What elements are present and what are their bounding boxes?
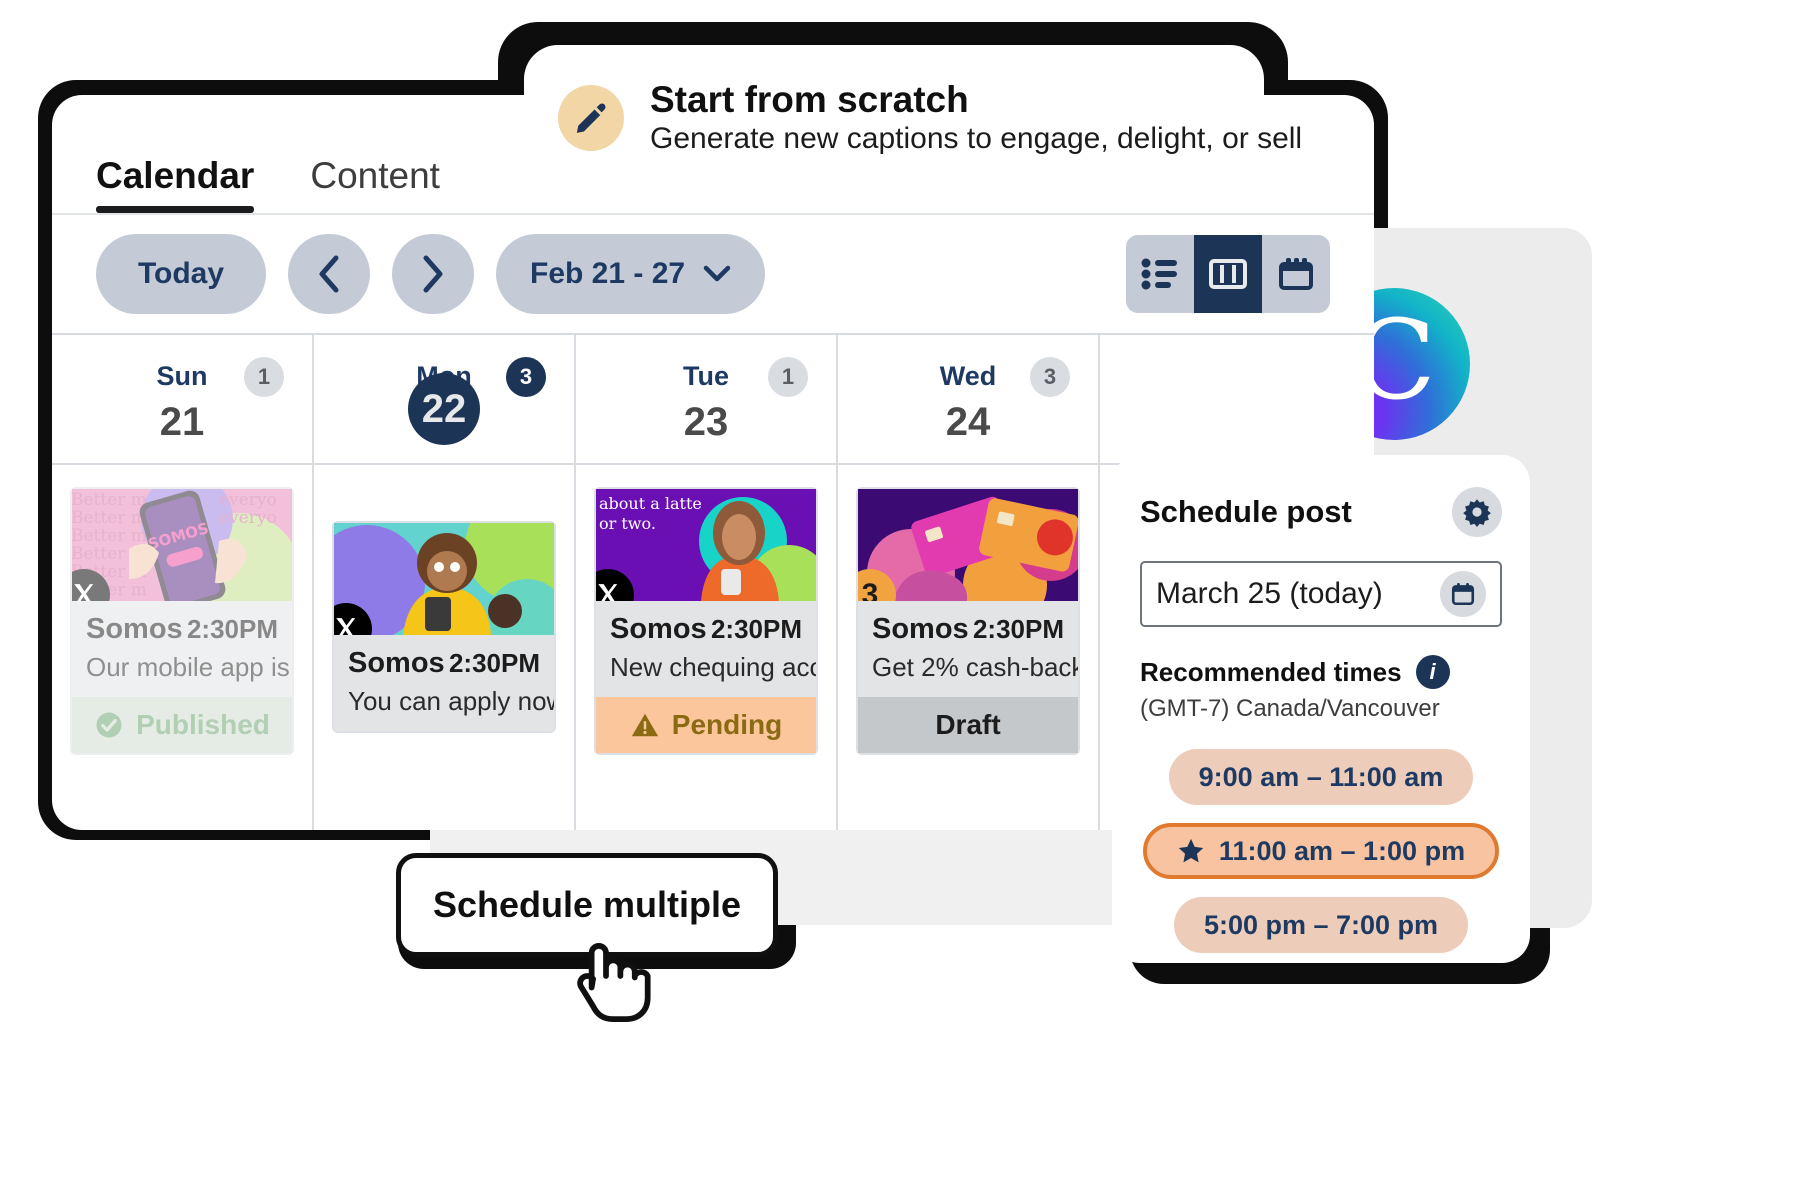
day-column-tue: Tue 1 23 about a latte or two. — [576, 335, 838, 830]
post-time: 2:30PM — [973, 614, 1064, 645]
time-chip-selected[interactable]: 11:00 am – 1:00 pm — [1143, 823, 1499, 879]
schedule-post-header: Schedule post — [1140, 487, 1502, 537]
schedule-date-value: March 25 (today) — [1156, 577, 1383, 611]
post-meta: Somos 2:30PM — [334, 635, 554, 686]
post-status-label: Published — [136, 709, 270, 741]
post-time: 2:30PM — [449, 648, 540, 679]
hand-pointer-cursor — [560, 930, 652, 1022]
svg-text:Better m: Better m — [72, 508, 147, 528]
post-account: Somos — [610, 613, 707, 646]
day-number-mon: 22 — [314, 373, 574, 445]
time-chip[interactable]: 9:00 am – 11:00 am — [1169, 749, 1474, 805]
time-chip-label: 5:00 pm – 7:00 pm — [1204, 910, 1438, 941]
day-body-sun[interactable]: Better mBetter m Better mBetter m Better… — [52, 465, 312, 830]
post-meta: Somos 2:30PM — [72, 601, 292, 652]
start-from-scratch-title: Start from scratch — [650, 79, 1302, 120]
date-range-selector[interactable]: Feb 21 - 27 — [496, 234, 765, 314]
post-thumbnail: about a latte or two. — [596, 489, 816, 601]
x-icon — [334, 616, 359, 635]
day-number-mon-value: 22 — [408, 373, 480, 445]
day-number-tue: 23 — [576, 400, 836, 445]
post-status-badge: Draft — [858, 697, 1078, 753]
day-count-badge-tue: 1 — [768, 357, 808, 397]
start-from-scratch-text: Start from scratch Generate new captions… — [650, 79, 1302, 156]
day-body-wed[interactable]: 3 Somos 2:30PM Get 2% cash-back... Draft — [838, 465, 1098, 830]
recommended-time-chips: 9:00 am – 11:00 am 11:00 am – 1:00 pm 5:… — [1140, 749, 1502, 953]
time-chip-label: 9:00 am – 11:00 am — [1199, 762, 1444, 793]
svg-text:Better m: Better m — [72, 490, 147, 510]
schedule-post-panel: Schedule post March 25 (today) Recom — [1112, 455, 1530, 963]
info-icon[interactable]: i — [1416, 655, 1450, 689]
today-button[interactable]: Today — [96, 234, 266, 314]
schedule-date-input[interactable]: March 25 (today) — [1140, 561, 1502, 627]
columns-icon — [1209, 257, 1247, 291]
chevron-left-icon — [316, 254, 342, 294]
post-caption: Get 2% cash-back... — [858, 652, 1078, 697]
recommended-times-header: Recommended times i — [1140, 655, 1502, 689]
date-picker-button[interactable] — [1440, 571, 1486, 617]
calendar-toolbar: Today Feb 21 - 27 — [52, 215, 1374, 333]
post-caption: You can apply now... — [334, 686, 554, 731]
post-status-badge: Pending — [596, 697, 816, 753]
pencil-icon-wrapper — [558, 85, 624, 151]
post-status-badge: Published — [72, 697, 292, 753]
previous-week-button[interactable] — [288, 234, 370, 314]
post-time: 2:30PM — [187, 614, 278, 645]
post-status-label: Draft — [935, 709, 1000, 741]
day-column-mon: Mon 3 22 — [314, 335, 576, 830]
post-caption: Our mobile app is... — [72, 652, 292, 697]
day-header-wed: Wed 3 24 — [838, 335, 1098, 465]
date-range-label: Feb 21 - 27 — [530, 257, 685, 291]
post-account: Somos — [872, 613, 969, 646]
day-number-wed: 24 — [838, 400, 1098, 445]
post-thumbnail: 3 — [858, 489, 1078, 601]
tab-calendar[interactable]: Calendar — [96, 155, 254, 213]
day-column-wed: Wed 3 24 — [838, 335, 1100, 830]
post-meta: Somos 2:30PM — [596, 601, 816, 652]
star-icon — [1177, 837, 1205, 865]
time-chip-label: 11:00 am – 1:00 pm — [1219, 836, 1465, 867]
day-body-tue[interactable]: about a latte or two. — [576, 465, 836, 830]
post-meta: Somos 2:30PM — [858, 601, 1078, 652]
post-card[interactable]: Better mBetter m Better mBetter m Better… — [70, 487, 294, 755]
svg-text:everyo: everyo — [219, 490, 277, 510]
gear-icon — [1462, 497, 1492, 527]
post-thumbnail — [334, 523, 554, 635]
column-view-button[interactable] — [1194, 235, 1262, 313]
day-number-sun: 21 — [52, 400, 312, 445]
day-count-badge-sun: 1 — [244, 357, 284, 397]
post-time: 2:30PM — [711, 614, 802, 645]
day-header-tue: Tue 1 23 — [576, 335, 836, 465]
day-body-mon[interactable]: Somos 2:30PM You can apply now... — [314, 465, 574, 830]
post-card[interactable]: Somos 2:30PM You can apply now... — [332, 521, 556, 733]
settings-button[interactable] — [1452, 487, 1502, 537]
month-view-button[interactable] — [1262, 235, 1330, 313]
day-header-partial — [1100, 335, 1270, 465]
screenshot-root: C Calendar Content Today Feb 21 - 27 — [0, 0, 1800, 1200]
post-card[interactable]: about a latte or two. — [594, 487, 818, 755]
svg-text:Better m: Better m — [72, 526, 147, 546]
day-header-mon: Mon 3 22 — [314, 335, 574, 465]
post-thumbnail: Better mBetter m Better mBetter m Better… — [72, 489, 292, 601]
view-toggle-group — [1126, 235, 1330, 313]
day-header-sun: Sun 1 21 — [52, 335, 312, 465]
day-count-badge-wed: 3 — [1030, 357, 1070, 397]
next-week-button[interactable] — [392, 234, 474, 314]
x-icon — [596, 582, 621, 601]
pencil-icon — [574, 101, 608, 135]
post-account: Somos — [86, 613, 183, 646]
timezone-label: (GMT-7) Canada/Vancouver — [1140, 695, 1502, 723]
recommended-times-label: Recommended times — [1140, 657, 1402, 688]
post-card[interactable]: 3 Somos 2:30PM Get 2% cash-back... Draft — [856, 487, 1080, 755]
calendar-icon — [1450, 581, 1476, 607]
day-column-sun: Sun 1 21 Better mBetter m — [52, 335, 314, 830]
warning-triangle-icon — [630, 711, 660, 739]
schedule-post-title: Schedule post — [1140, 494, 1352, 530]
start-from-scratch-tooltip[interactable]: Start from scratch Generate new captions… — [524, 45, 1264, 191]
svg-text:everyo: everyo — [219, 508, 277, 528]
time-chip[interactable]: 5:00 pm – 7:00 pm — [1174, 897, 1468, 953]
svg-text:about a latte: about a latte — [599, 494, 702, 513]
chevron-down-icon — [703, 265, 731, 283]
list-icon — [1141, 257, 1179, 291]
chevron-right-icon — [420, 254, 446, 294]
calendar-icon — [1277, 256, 1315, 292]
x-icon — [72, 582, 97, 601]
post-account: Somos — [348, 647, 445, 680]
post-caption: New chequing acc... — [596, 652, 816, 697]
check-circle-icon — [94, 710, 124, 740]
post-status-label: Pending — [672, 709, 782, 741]
svg-text:or two.: or two. — [599, 514, 656, 533]
list-view-button[interactable] — [1126, 235, 1194, 313]
start-from-scratch-subtitle: Generate new captions to engage, delight… — [650, 121, 1302, 157]
tab-content[interactable]: Content — [310, 155, 440, 213]
